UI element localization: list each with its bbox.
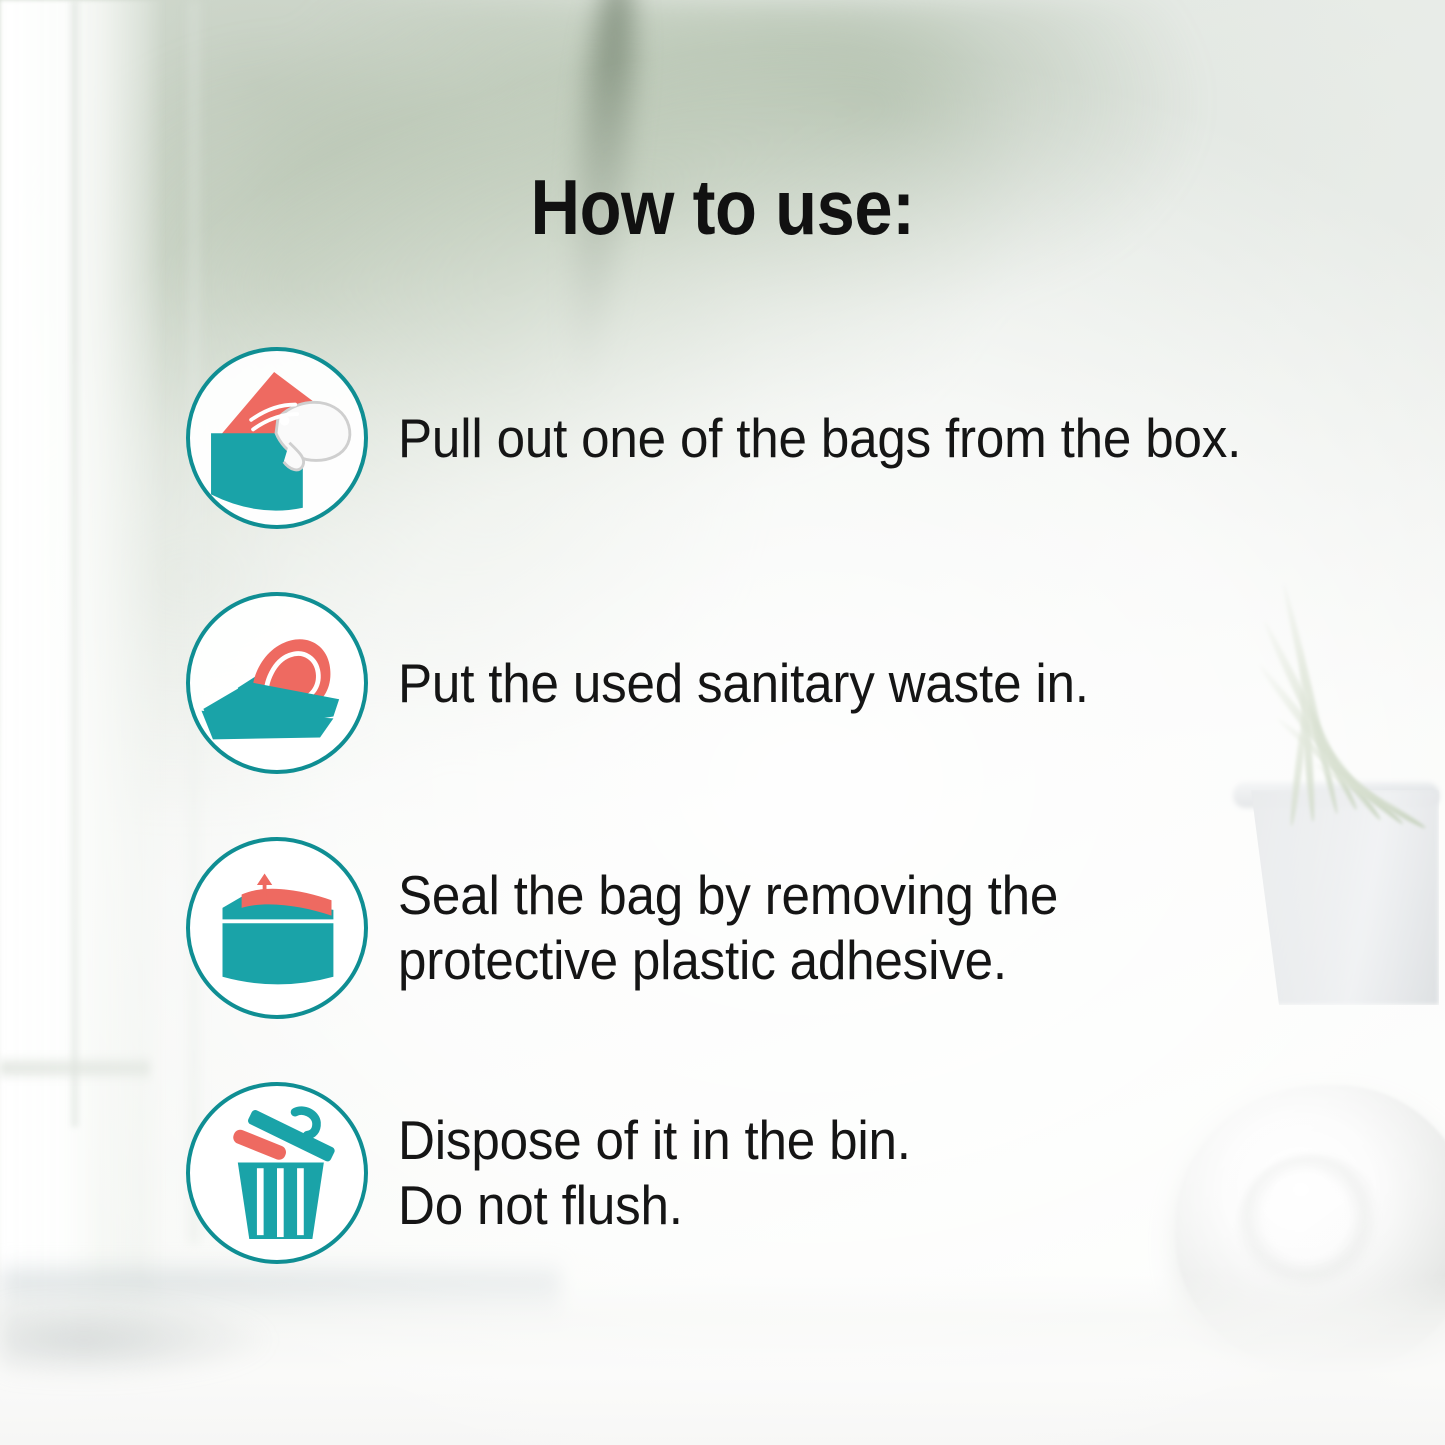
step-label: Dispose of it in the bin. Do not flush. bbox=[398, 1108, 911, 1238]
pull-bag-from-box-icon bbox=[186, 347, 368, 529]
step-item: Pull out one of the bags from the box. bbox=[186, 345, 1336, 531]
page-title: How to use: bbox=[87, 168, 1359, 246]
step-label: Put the used sanitary waste in. bbox=[398, 651, 1089, 716]
step-item: Seal the bag by removing the protective … bbox=[186, 835, 1336, 1021]
how-to-use-infographic: How to use: bbox=[0, 0, 1445, 1445]
dispose-in-bin-icon bbox=[186, 1082, 368, 1264]
step-item: Dispose of it in the bin. Do not flush. bbox=[186, 1080, 1336, 1266]
step-item: Put the used sanitary waste in. bbox=[186, 590, 1336, 776]
step-label: Pull out one of the bags from the box. bbox=[398, 406, 1241, 471]
step-label: Seal the bag by removing the protective … bbox=[398, 863, 1058, 993]
place-sanitary-waste-icon bbox=[186, 592, 368, 774]
steps-list: Pull out one of the bags from the box. bbox=[186, 345, 1336, 1266]
seal-bag-adhesive-icon bbox=[186, 837, 368, 1019]
